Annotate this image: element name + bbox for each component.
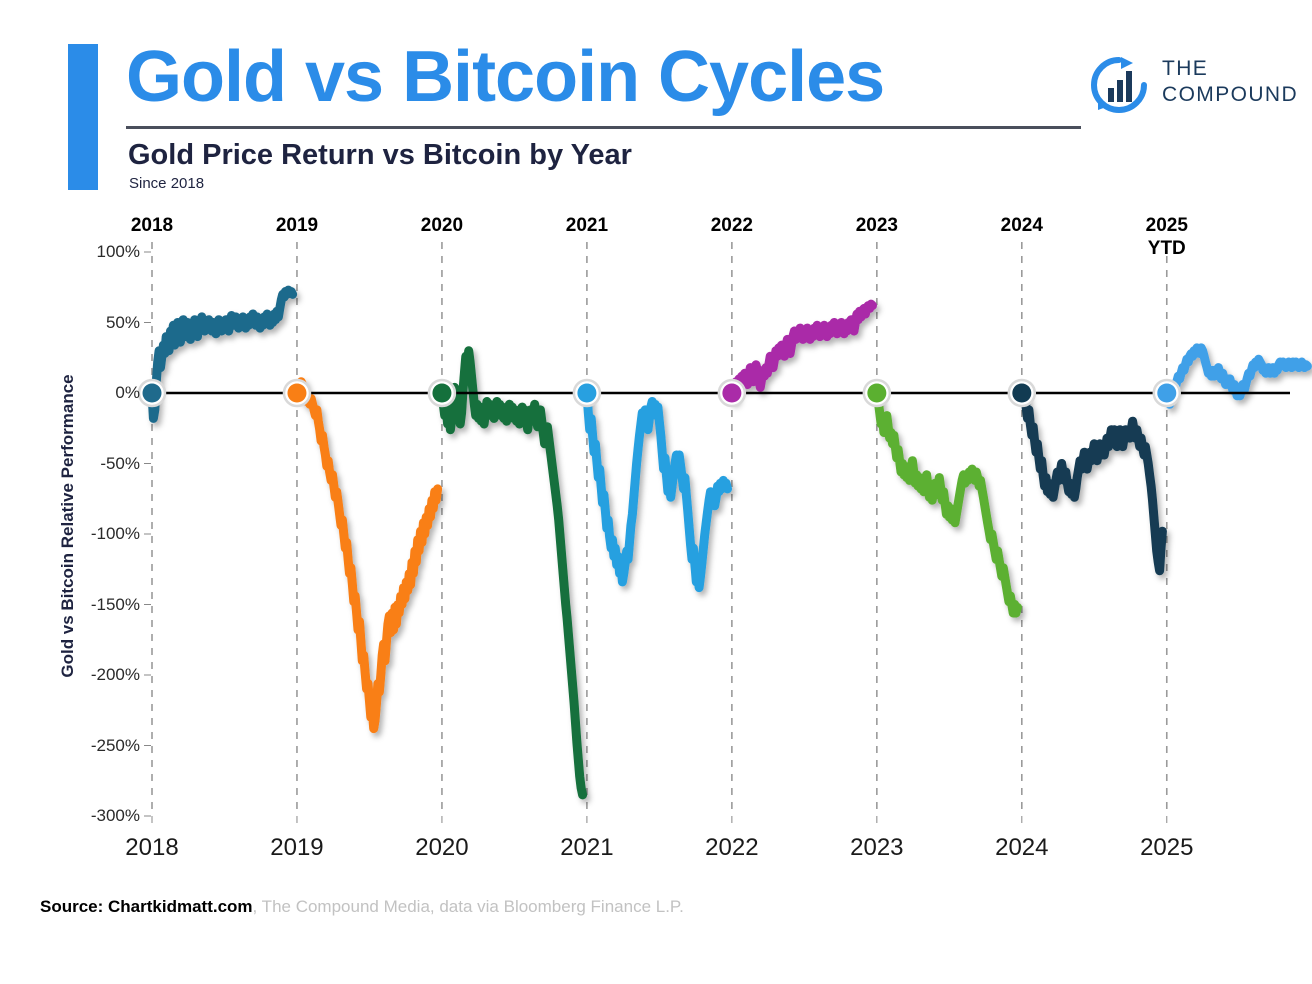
top-year-label-text: 2022: [711, 214, 753, 237]
source-note: Source: Chartkidmatt.com, The Compound M…: [40, 897, 684, 917]
page-title: Gold vs Bitcoin Cycles: [126, 38, 884, 116]
series-start-marker-2021: [574, 380, 600, 406]
series-line-2019: [297, 382, 438, 729]
series-line-2021: [587, 393, 728, 588]
top-year-label-text: 2020: [421, 214, 463, 237]
y-tick-label: -250%: [48, 736, 140, 756]
y-tick-label: -200%: [48, 665, 140, 685]
series-start-marker-2025: [1154, 380, 1180, 406]
series-start-marker-2022: [719, 380, 745, 406]
logo-text: THE COMPOUND: [1162, 56, 1298, 108]
series-start-marker-2024: [1009, 380, 1035, 406]
series-line-2022: [732, 304, 873, 398]
series-start-marker-2023: [864, 380, 890, 406]
top-year-label-text: 2025: [1146, 214, 1188, 237]
title-accent-bar: [68, 44, 98, 190]
x-tick-label: 2022: [705, 834, 758, 862]
top-year-label-2025: 2025YTD: [1146, 214, 1188, 260]
logo-text-line2: COMPOUND: [1162, 82, 1298, 108]
top-year-label-2022: 2022: [711, 214, 753, 237]
chart-container: Gold vs Bitcoin Relative Performance 100…: [0, 206, 1312, 886]
top-year-label-text: 2018: [131, 214, 173, 237]
series-line-2023: [877, 393, 1018, 613]
source-bold: Source: Chartkidmatt.com: [40, 897, 253, 916]
top-year-label-suffix: YTD: [1146, 237, 1188, 260]
top-year-label-2020: 2020: [421, 214, 463, 237]
series-start-marker-2020: [429, 380, 455, 406]
top-year-label-text: 2021: [566, 214, 608, 237]
series-start-marker-2019: [284, 380, 310, 406]
x-tick-label: 2020: [415, 834, 468, 862]
top-year-label-text: 2024: [1001, 214, 1043, 237]
top-year-label-2024: 2024: [1001, 214, 1043, 237]
chart-plot-area: [0, 206, 1312, 886]
series-line-2018: [152, 290, 293, 418]
x-tick-label: 2023: [850, 834, 903, 862]
series-line-2020: [442, 351, 583, 795]
y-tick-label: -150%: [48, 595, 140, 615]
x-tick-label: 2025: [1140, 834, 1193, 862]
top-year-label-2019: 2019: [276, 214, 318, 237]
top-year-label-text: 2023: [856, 214, 898, 237]
top-year-label-2023: 2023: [856, 214, 898, 237]
top-year-label-2021: 2021: [566, 214, 608, 237]
x-tick-label: 2024: [995, 834, 1048, 862]
y-tick-label: 50%: [48, 313, 140, 333]
y-tick-label: 0%: [48, 383, 140, 403]
x-tick-label: 2018: [125, 834, 178, 862]
y-tick-label: -300%: [48, 806, 140, 826]
compound-circular-arrow-bars-icon: [1088, 54, 1150, 116]
chart-subtitle: Gold Price Return vs Bitcoin by Year: [128, 138, 632, 172]
x-tick-label: 2019: [270, 834, 323, 862]
y-tick-label: -100%: [48, 524, 140, 544]
brand-logo: THE COMPOUND: [1088, 48, 1298, 128]
top-year-label-2018: 2018: [131, 214, 173, 237]
y-tick-label: -50%: [48, 454, 140, 474]
series-line-2024: [1022, 387, 1163, 570]
top-year-label-text: 2019: [276, 214, 318, 237]
chart-since-label: Since 2018: [129, 175, 204, 192]
y-tick-label: 100%: [48, 242, 140, 262]
x-tick-label: 2021: [560, 834, 613, 862]
title-divider: [126, 126, 1081, 129]
series-line-2025: [1167, 348, 1308, 404]
series-start-marker-2018: [139, 380, 165, 406]
source-muted: , The Compound Media, data via Bloomberg…: [253, 897, 684, 916]
logo-text-line1: THE: [1162, 56, 1298, 82]
